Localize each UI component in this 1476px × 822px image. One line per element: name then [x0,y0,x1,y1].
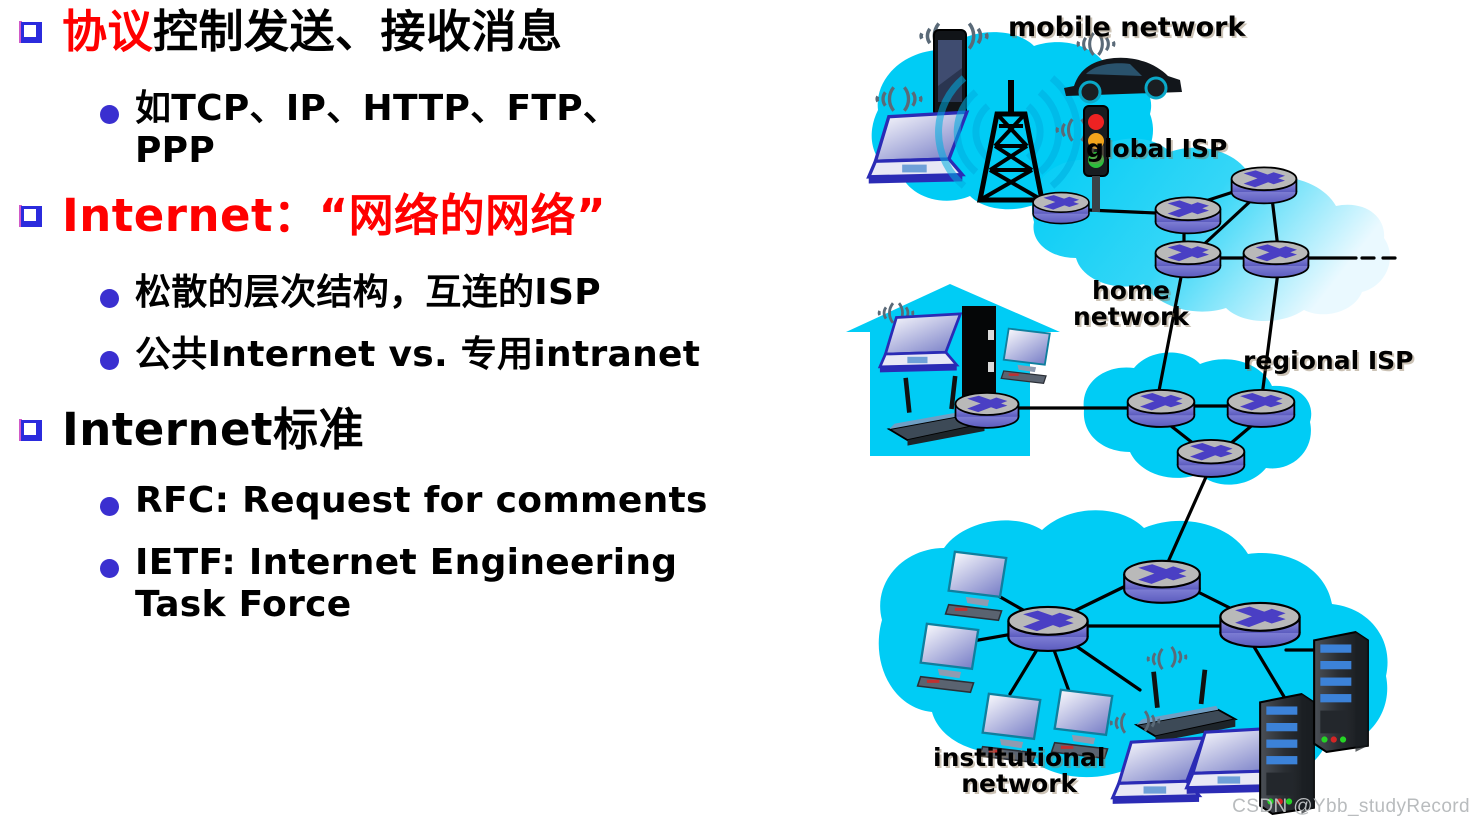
label-home-line-2: network [1073,302,1189,331]
label-inst-line-2: network [961,769,1077,798]
monitor-icon [1001,329,1050,384]
round-bullet-icon [100,497,119,516]
router-regional-b [1228,390,1295,427]
round-bullet-icon [100,105,119,124]
bullet-item-2: 如TCP、IP、HTTP、FTP、PPP [100,88,619,173]
bullet-item-1: 协议控制发送、接收消息 [18,6,563,57]
label-home-network: homenetwork [1073,278,1189,329]
router-global-d [1244,241,1309,277]
diagram-svg [838,0,1476,822]
bullet-item-5: 公共Internet vs. 专用intranet [100,334,700,376]
router-mobile [1033,193,1089,224]
bullet-7-text: RFC: Request for comments [135,480,708,522]
server-icon [1314,632,1368,752]
router-global-a [1156,197,1221,233]
router-inst-right [1220,603,1299,647]
bullet-item-4: 松散的层次结构，互连的ISP [100,272,601,314]
label-global-isp: global ISP [1086,136,1227,162]
square-bullet-icon [18,417,44,443]
bullet-item-3: Internet：“网络的网络” [18,190,606,241]
bullet-4-text: 松散的层次结构，互连的ISP [135,272,601,314]
bullet-6-text: Internet标准 [62,404,364,455]
round-bullet-icon [100,351,119,370]
square-bullet-icon [18,19,44,45]
bullet-2-line-2: PPP [135,130,215,171]
bullet-item-6: Internet标准 [18,404,364,455]
router-regional-c [1178,440,1245,477]
bullet-item-7: RFC: Request for comments [100,480,708,522]
bullet-3-text: Internet：“网络的网络” [62,190,606,241]
csdn-watermark: CSDN @Ybb_studyRecord [1232,796,1470,818]
bullet-1-red-part: 协议 [62,5,153,58]
bullet-8-text: IETF: Internet EngineeringTask Force [135,542,795,627]
router-regional-a [1128,390,1195,427]
router-inst-left [1008,607,1087,651]
router-global-c [1156,241,1221,277]
desktop-tower-slot-2 [988,362,994,372]
router-inst-top [1124,561,1200,603]
round-bullet-icon [100,559,119,578]
round-bullet-icon [100,289,119,308]
router-global-b [1232,167,1297,203]
bullet-5-text: 公共Internet vs. 专用intranet [135,334,700,376]
bullet-1-text: 协议控制发送、接收消息 [62,6,563,57]
monitor-icon [946,552,1007,620]
bullet-8-line-1: IETF: Internet Engineering [135,542,677,583]
smartphone-icon [934,30,966,116]
bullet-8-line-2: Task Force [135,584,352,625]
desktop-tower-slot-1 [988,330,994,340]
bullet-2-line-1: 如TCP、IP、HTTP、FTP、 [135,88,619,129]
monitor-icon [918,624,979,692]
desktop-tower-icon [962,306,996,398]
router-home [956,393,1019,428]
square-bullet-icon [18,203,44,229]
slide-text-column: 协议控制发送、接收消息 如TCP、IP、HTTP、FTP、PPP Interne… [0,0,840,822]
internet-structure-diagram: mobile network global ISP homenetwork re… [838,0,1476,822]
label-regional-isp: regional ISP [1243,348,1414,374]
label-mobile-network: mobile network [1008,14,1245,42]
bullet-2-text: 如TCP、IP、HTTP、FTP、PPP [135,88,619,173]
label-institutional-network: institutionalnetwork [933,745,1105,796]
bullet-item-8: IETF: Internet EngineeringTask Force [100,542,795,627]
bullet-1-black-part: 控制发送、接收消息 [153,5,563,58]
